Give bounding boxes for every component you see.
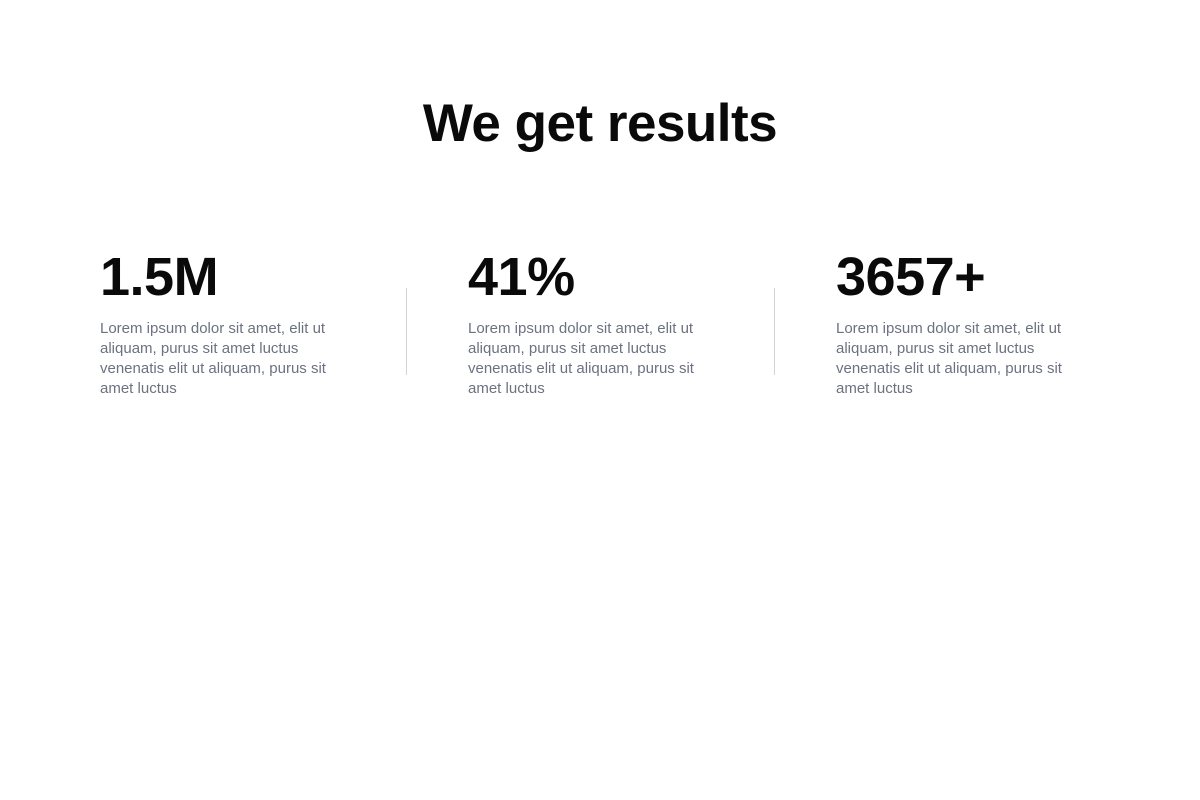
page-title: We get results bbox=[0, 92, 1200, 156]
stat-card-3: 3657+ Lorem ipsum dolor sit amet, elit u… bbox=[836, 248, 1081, 399]
stat-description: Lorem ipsum dolor sit amet, elit ut aliq… bbox=[100, 319, 345, 399]
stat-card-1: 1.5M Lorem ipsum dolor sit amet, elit ut… bbox=[100, 248, 345, 399]
stat-value: 3657+ bbox=[836, 248, 1081, 306]
results-stats-section: We get results 1.5M Lorem ipsum dolor si… bbox=[0, 0, 1200, 800]
stat-description: Lorem ipsum dolor sit amet, elit ut aliq… bbox=[836, 319, 1081, 399]
stat-value: 1.5M bbox=[100, 248, 345, 306]
stat-card-2: 41% Lorem ipsum dolor sit amet, elit ut … bbox=[468, 248, 713, 399]
stat-divider-2 bbox=[713, 248, 836, 399]
stat-value: 41% bbox=[468, 248, 713, 306]
stat-divider-1 bbox=[345, 248, 468, 399]
vertical-rule bbox=[774, 288, 775, 375]
stat-description: Lorem ipsum dolor sit amet, elit ut aliq… bbox=[468, 319, 713, 399]
vertical-rule bbox=[406, 288, 407, 375]
stats-row: 1.5M Lorem ipsum dolor sit amet, elit ut… bbox=[100, 248, 1100, 399]
